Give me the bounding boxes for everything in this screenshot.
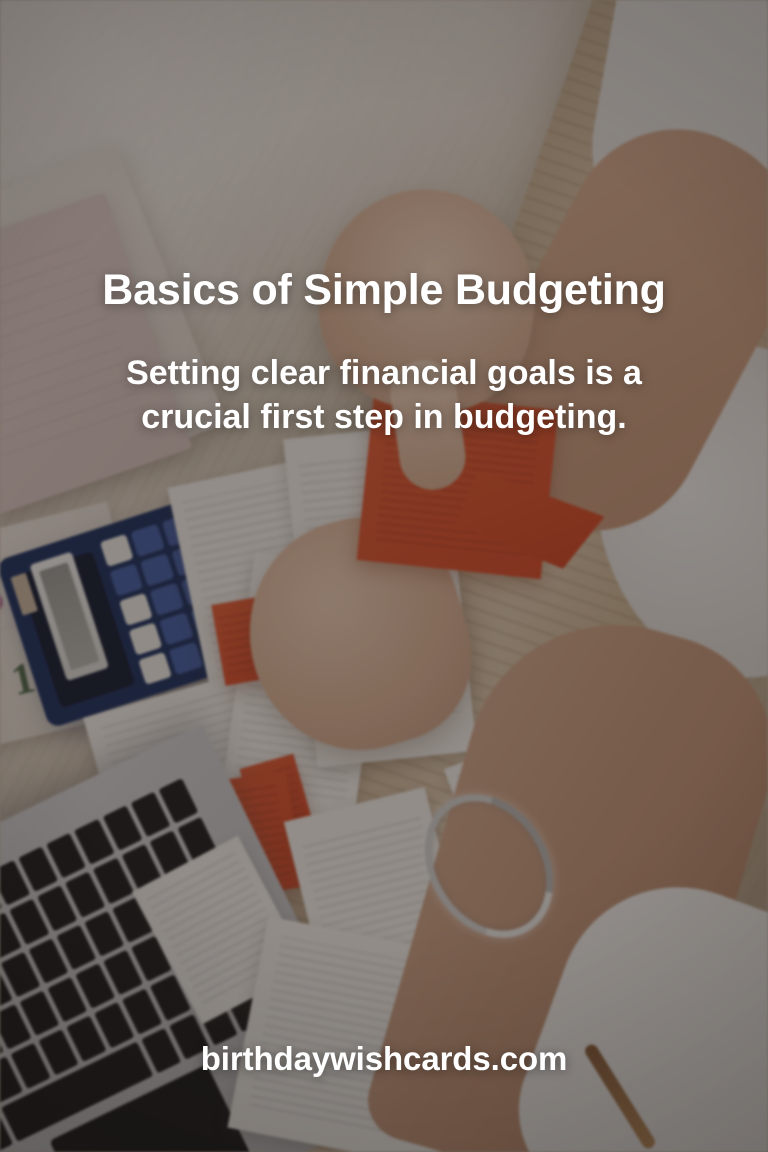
page-title: Basics of Simple Budgeting xyxy=(0,268,768,314)
text-content: Basics of Simple Budgeting Setting clear… xyxy=(0,0,768,1152)
page-subtitle: Setting clear financial goals is a cruci… xyxy=(84,352,684,439)
site-url: birthdaywishcards.com xyxy=(0,1040,768,1078)
pin-card: 5 10 xyxy=(0,0,768,1152)
